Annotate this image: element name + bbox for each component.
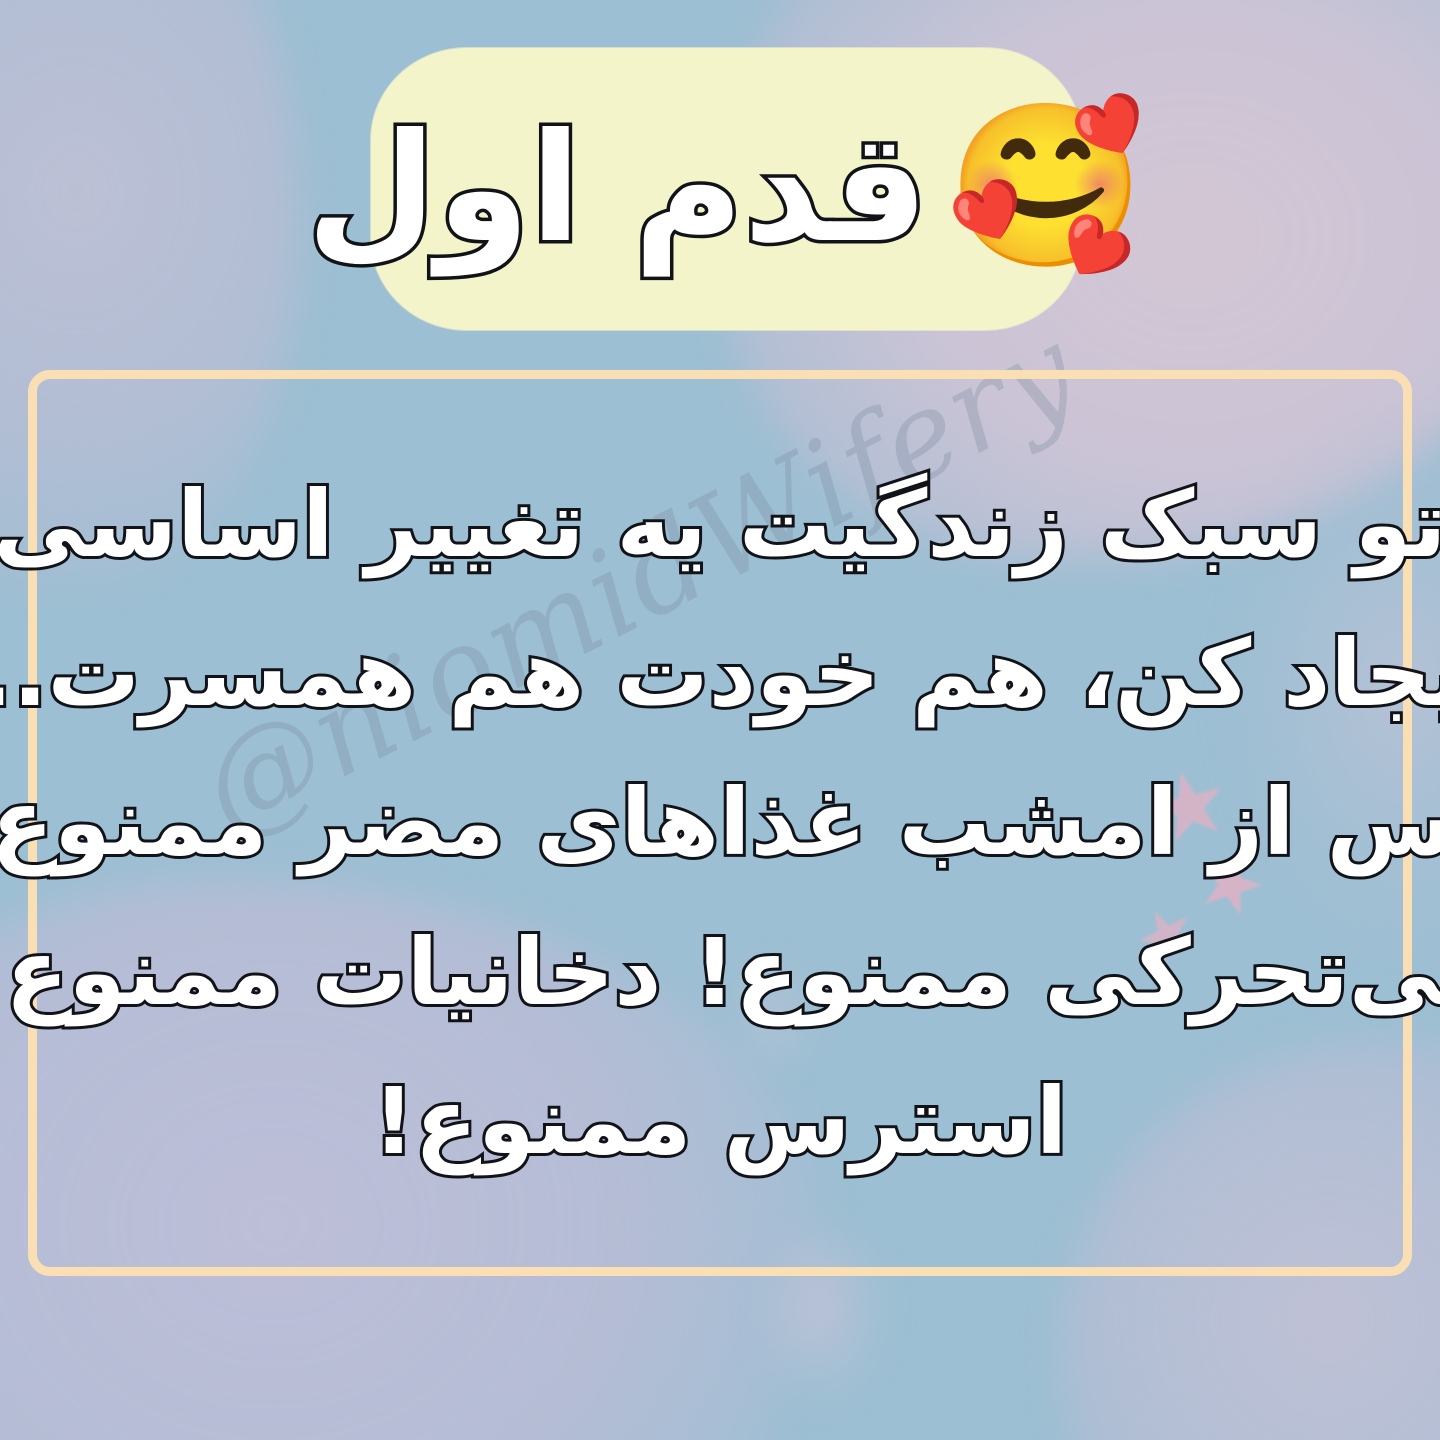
message-line: پس از امشب غذاهای مضر ممنوع! xyxy=(0,748,1440,897)
message-line: تو سبک زندگیت یه تغییر اساسی xyxy=(0,450,1440,599)
header-badge: 🥰 قدم اول xyxy=(371,48,1081,330)
message-line: بی‌تحرکی ممنوع! دخانیات ممنوع! xyxy=(0,898,1440,1047)
message-lines: تو سبک زندگیت یه تغییر اساسیایجاد کن، هم… xyxy=(63,450,1377,1195)
poster-canvas: ★★★ @niomidWifery 🥰 قدم اول تو سبک زندگی… xyxy=(0,0,1440,1440)
smiling-face-with-hearts-emoji: 🥰 xyxy=(946,106,1145,266)
message-line: استرس ممنوع! xyxy=(373,1047,1067,1196)
page-title: قدم اول xyxy=(306,114,928,264)
message-panel: تو سبک زندگیت یه تغییر اساسیایجاد کن، هم… xyxy=(28,370,1412,1276)
message-line: ایجاد کن، هم خودت هم همسرت... xyxy=(0,599,1440,748)
